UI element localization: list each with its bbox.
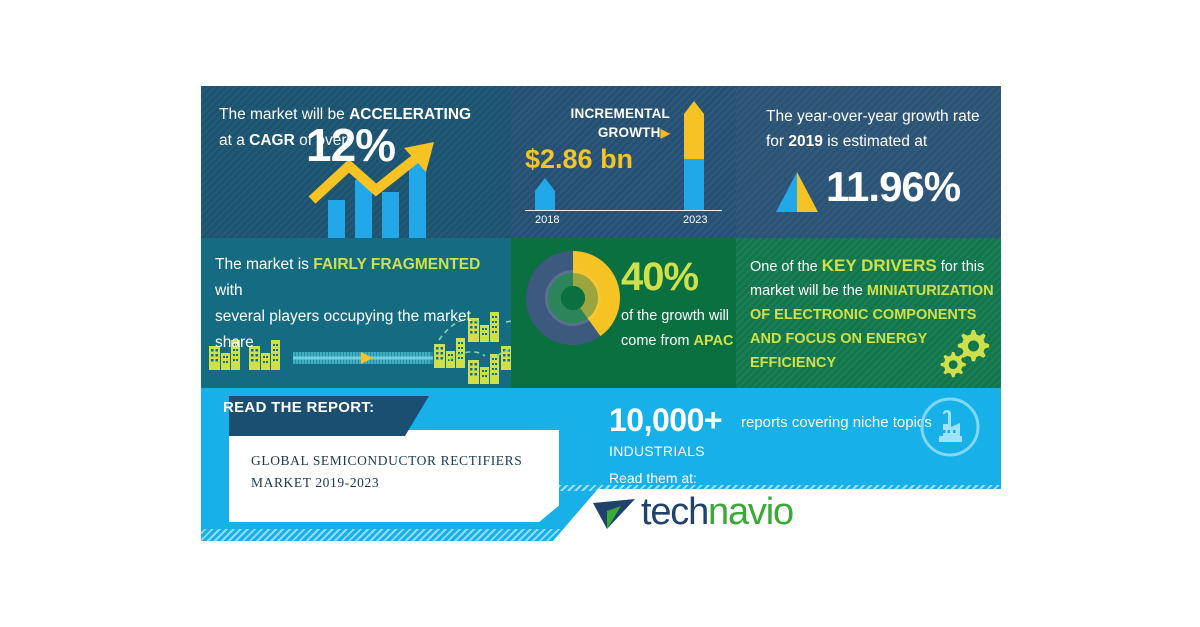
cagr-bar-4 bbox=[409, 160, 426, 238]
technavio-logo: technavio bbox=[591, 491, 793, 534]
apac-sub-line1: of the growth will bbox=[621, 308, 729, 324]
incremental-growth-label: INCREMENTAL GROWTH▶ bbox=[525, 104, 670, 143]
incremental-label-line2: GROWTH bbox=[598, 125, 661, 140]
apac-sub-line2-bold: APAC bbox=[694, 333, 734, 349]
report-category: INDUSTRIALS bbox=[609, 443, 705, 459]
key-drivers-statement: One of the KEY DRIVERS for this market w… bbox=[750, 254, 998, 375]
panel-cagr: The market will be ACCELERATING at a CAG… bbox=[201, 86, 511, 238]
frag-line1-pre: The market is bbox=[215, 256, 313, 273]
logo-text-navio: navio bbox=[708, 491, 793, 533]
apac-share-value: 40% bbox=[621, 255, 698, 300]
read-the-report-label: READ THE REPORT: bbox=[223, 399, 374, 416]
incremental-year-start: 2018 bbox=[535, 214, 559, 226]
incremental-label-line1: INCREMENTAL bbox=[571, 106, 670, 121]
row-middle: The market is FAIRLY FRAGMENTED with sev… bbox=[201, 238, 1001, 388]
cagr-line2-bold: CAGR bbox=[249, 132, 295, 149]
row-top: The market will be ACCELERATING at a CAG… bbox=[201, 86, 1001, 238]
panel-key-drivers: One of the KEY DRIVERS for this market w… bbox=[736, 238, 1001, 388]
yoy-line2-bold: 2019 bbox=[788, 133, 822, 150]
factory-icon bbox=[919, 396, 981, 458]
buildings-cluster-right-3 bbox=[468, 354, 499, 384]
report-card[interactable]: GLOBAL SEMICONDUCTOR RECTIFIERS MARKET 2… bbox=[229, 430, 559, 522]
apac-donut-chart bbox=[525, 250, 621, 346]
yoy-line1: The year-over-year growth rate bbox=[766, 108, 980, 125]
yoy-line2-pre: for bbox=[766, 133, 788, 150]
incremental-bar-2023-base bbox=[684, 159, 704, 210]
incremental-year-end: 2023 bbox=[683, 214, 707, 226]
footer-bar: READ THE REPORT: GLOBAL SEMICONDUCTOR RE… bbox=[201, 388, 1001, 541]
yoy-line2-post: is estimated at bbox=[823, 133, 927, 150]
frag-line2: several players occupying the market sha… bbox=[215, 308, 471, 351]
cagr-bar-3 bbox=[382, 192, 399, 238]
frag-line1-post: with bbox=[215, 282, 243, 299]
drivers-pre: One of the bbox=[750, 259, 822, 275]
report-title: GLOBAL SEMICONDUCTOR RECTIFIERS MARKET 2… bbox=[251, 450, 551, 494]
panel-fragmentation: The market is FAIRLY FRAGMENTED with sev… bbox=[201, 238, 511, 388]
technavio-mark-icon bbox=[591, 493, 637, 533]
fragmentation-statement: The market is FAIRLY FRAGMENTED with sev… bbox=[215, 252, 510, 356]
report-count-caption: reports covering niche topics bbox=[741, 414, 932, 431]
infographic-canvas: The market will be ACCELERATING at a CAG… bbox=[201, 86, 1001, 541]
incremental-bar-2018 bbox=[535, 178, 555, 210]
cagr-line2-pre: at a bbox=[219, 132, 249, 149]
yoy-statement: The year-over-year growth rate for 2019 … bbox=[766, 104, 981, 154]
cagr-bar-1 bbox=[328, 200, 345, 238]
apac-sub-line2-pre: come from bbox=[621, 333, 694, 349]
frag-line1-bold: FAIRLY FRAGMENTED bbox=[313, 256, 480, 273]
panel-incremental-growth: INCREMENTAL GROWTH▶ $2.86 bn 2018 2023 bbox=[511, 86, 736, 238]
incremental-bar-2023-increment bbox=[684, 101, 704, 159]
logo-text-tech: tech bbox=[641, 491, 708, 533]
panel-apac-share: 40% of the growth will come from APAC bbox=[511, 238, 736, 388]
growth-triangle-icon bbox=[774, 170, 820, 214]
play-arrow-icon: ▶ bbox=[661, 126, 670, 140]
apac-share-caption: of the growth will come from APAC bbox=[621, 304, 736, 354]
donut-hole bbox=[561, 286, 585, 310]
yoy-value: 11.96% bbox=[826, 163, 960, 211]
panel-yoy-growth: The year-over-year growth rate for 2019 … bbox=[736, 86, 1001, 238]
drivers-highlight: KEY DRIVERS bbox=[822, 256, 937, 275]
cagr-value: 12% bbox=[306, 118, 395, 172]
report-count: 10,000+ bbox=[609, 402, 722, 439]
incremental-growth-value: $2.86 bn bbox=[525, 144, 675, 175]
read-them-at-label: Read them at: bbox=[609, 470, 697, 486]
